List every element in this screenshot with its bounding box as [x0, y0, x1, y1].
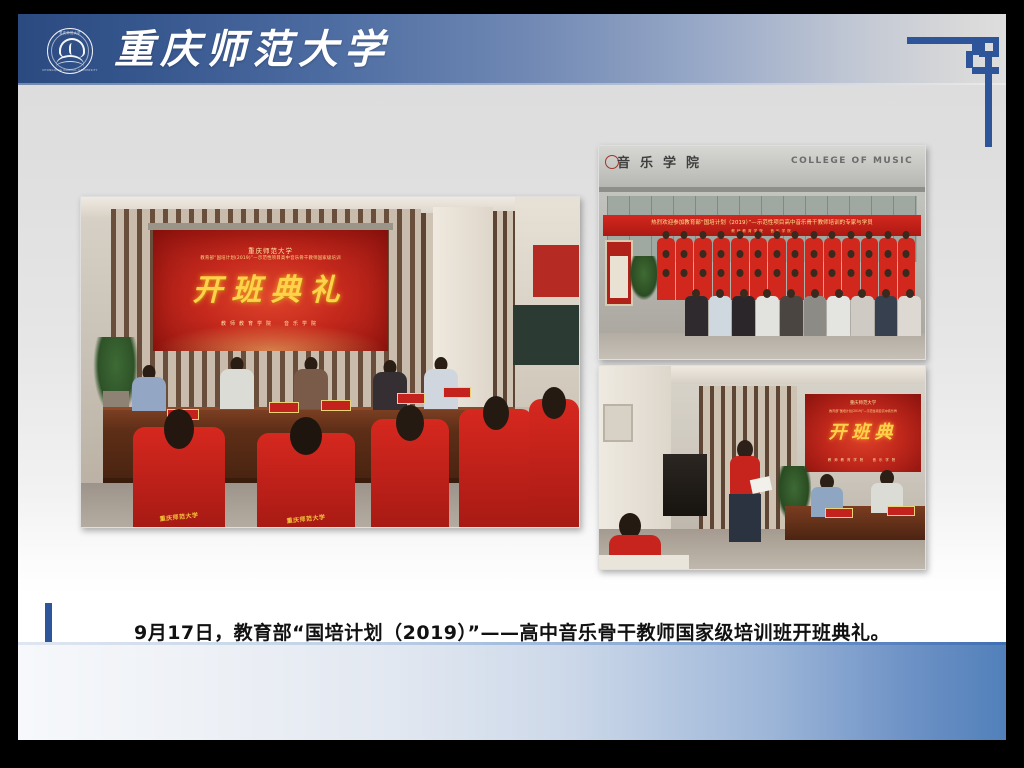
name-plate	[887, 506, 915, 516]
emblem-ring-text-en: CHONGQING NORMAL UNIVERSITY	[42, 69, 98, 72]
trainee-in-red-jacket: 重庆师范大学	[257, 433, 355, 528]
slide-footer-band	[18, 642, 1006, 740]
building-facade: 音乐学院 COLLEGE OF MUSIC	[599, 146, 925, 192]
trainee-in-red-jacket	[459, 409, 533, 528]
screen-line-1: 重庆师范大学	[153, 245, 388, 255]
name-plate	[825, 508, 853, 518]
screen-line-1: 重庆师范大学	[805, 400, 921, 406]
slide-caption: 9月17日，教育部“国培计划（2019）”——高中音乐骨干教师国家级培训班开班典…	[18, 618, 1006, 645]
photo-opening-ceremony-panel: 重庆师范大学 教育部“国培计划(2019)”—示范性项目高中音乐骨干教师国家级培…	[80, 196, 580, 528]
jacket-text: 重庆师范大学	[159, 510, 199, 523]
group-front-row	[685, 296, 921, 340]
student-desk	[599, 555, 689, 569]
projection-screen: 重庆师范大学 教育部“国培计划(2019)”—示范性项目高中音乐骨 开班典 教师…	[805, 394, 921, 472]
presentation-slide: 重庆师范大学 CHONGQING NORMAL UNIVERSITY 重庆师范大…	[18, 14, 1006, 740]
name-plate	[269, 402, 299, 413]
photo-group-college-of-music: 音乐学院 COLLEGE OF MUSIC 热烈欢迎参加教育部“国培计划（201…	[598, 145, 926, 360]
welcome-banner: 热烈欢迎参加教育部“国培计划（2019）”—示范性项目高中音乐骨干教师培训的专家…	[603, 215, 921, 236]
emblem-ring-text-cn: 重庆师范大学	[59, 30, 81, 35]
speech-room-scene: 重庆师范大学 教育部“国培计划(2019)”—示范性项目高中音乐骨 开班典 教师…	[599, 366, 925, 569]
trainee-in-red-jacket: 重庆师范大学	[133, 427, 225, 527]
screen-headline: 开班典	[805, 418, 921, 444]
screen-line-3: 教师教育学院 音乐学院	[805, 457, 921, 462]
corner-ornament-top-right-icon	[907, 37, 999, 147]
trainee-in-red-jacket	[371, 419, 449, 528]
jacket-text: 重庆师范大学	[286, 512, 326, 525]
building-name-cn: 音乐学院	[617, 152, 709, 171]
screen-line-2: 教育部“国培计划(2019)”—示范性项目高中音乐骨干教师国家级培训	[158, 255, 384, 261]
banner-subtext: 教师教育学院 音乐学院	[603, 229, 921, 234]
panel-member	[421, 357, 461, 409]
conference-room-scene: 重庆师范大学 教育部“国培计划(2019)”—示范性项目高中音乐骨干教师国家级培…	[81, 197, 579, 527]
panel-member	[217, 357, 257, 409]
screen-line-3: 教师教育学院 音乐学院	[153, 320, 388, 327]
group-photo-scene: 音乐学院 COLLEGE OF MUSIC 热烈欢迎参加教育部“国培计划（201…	[599, 146, 925, 359]
projection-screen: 重庆师范大学 教育部“国培计划(2019)”—示范性项目高中音乐骨干教师国家级培…	[153, 229, 388, 351]
university-title: 重庆师范大学	[114, 28, 390, 72]
trainee-in-red-jacket	[529, 399, 579, 528]
banner-text: 热烈欢迎参加教育部“国培计划（2019）”—示范性项目高中音乐骨干教师培训的专家…	[608, 218, 916, 226]
building-name-en: COLLEGE OF MUSIC	[791, 156, 913, 166]
name-plate	[321, 400, 351, 411]
emblem-ring-text: 重庆师范大学 CHONGQING NORMAL UNIVERSITY	[48, 29, 92, 73]
panel-member	[129, 365, 169, 413]
name-plate	[397, 393, 425, 404]
university-emblem-icon: 重庆师范大学 CHONGQING NORMAL UNIVERSITY	[47, 28, 93, 74]
slide-header-band: 重庆师范大学 CHONGQING NORMAL UNIVERSITY 重庆师范大…	[18, 14, 1006, 85]
name-plate	[443, 387, 471, 398]
screen-line-2: 教育部“国培计划(2019)”—示范性项目高中音乐骨	[808, 408, 918, 413]
photo-host-speaking: 重庆师范大学 教育部“国培计划(2019)”—示范性项目高中音乐骨 开班典 教师…	[598, 365, 926, 570]
speaker-with-microphone	[727, 440, 763, 558]
slide-canvas: 重庆师范大学 CHONGQING NORMAL UNIVERSITY 重庆师范大…	[0, 0, 1024, 768]
screen-headline: 开班典礼	[153, 265, 388, 309]
